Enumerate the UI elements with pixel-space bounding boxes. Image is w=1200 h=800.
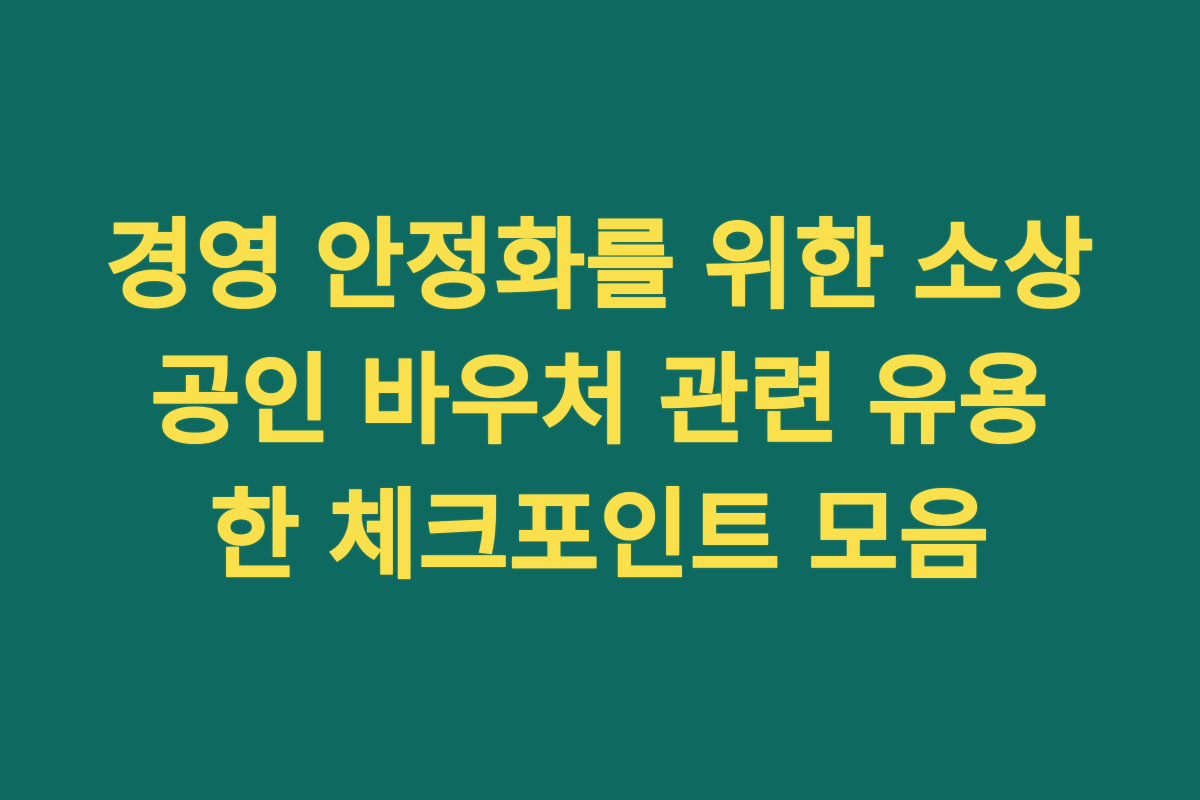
poster-canvas: 경영 안정화를 위한 소상 공인 바우처 관련 유용 한 체크포인트 모음	[0, 0, 1200, 800]
headline-line-1: 경영 안정화를 위한 소상	[40, 198, 1160, 333]
headline-line-3: 한 체크포인트 모음	[40, 468, 1160, 603]
headline-line-2: 공인 바우처 관련 유용	[40, 333, 1160, 468]
headline-block: 경영 안정화를 위한 소상 공인 바우처 관련 유용 한 체크포인트 모음	[0, 198, 1200, 603]
